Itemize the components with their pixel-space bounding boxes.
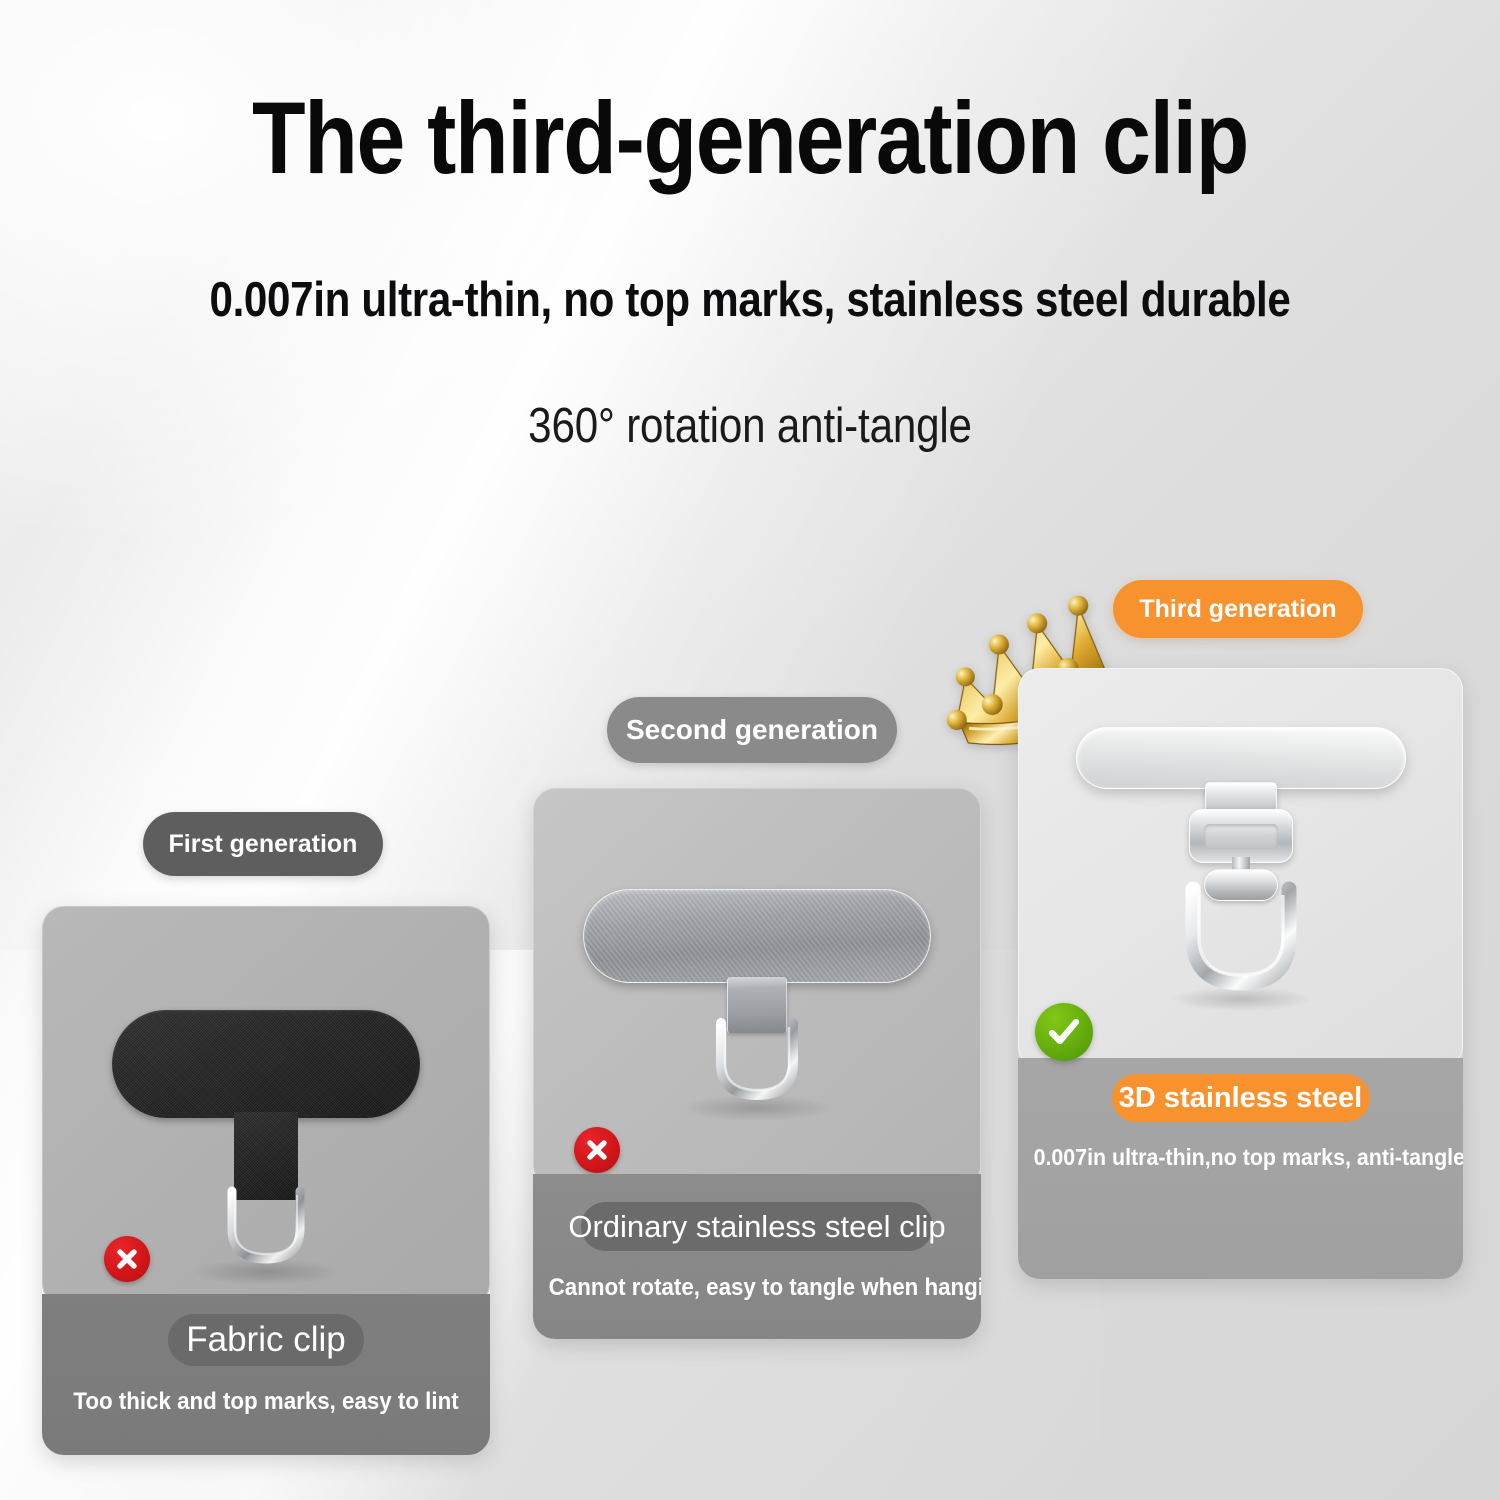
product-name-label: Fabric clip xyxy=(186,1320,345,1360)
generation-badge-first: First generation xyxy=(143,812,383,876)
product-name-label: Ordinary stainless steel clip xyxy=(568,1209,945,1245)
comparison-card-first-generation: Fabric clip Too thick and top marks, eas… xyxy=(42,906,490,1455)
page-subtitle: 0.007in ultra-thin, no top marks, stainl… xyxy=(105,272,1395,328)
product-image-3d-stainless-steel-clip xyxy=(1018,668,1463,1068)
product-caption: 0.007in ultra-thin,no top marks, anti-ta… xyxy=(1034,1144,1448,1171)
product-name-badge: Fabric clip xyxy=(168,1314,364,1366)
clip-bar xyxy=(1076,727,1406,789)
fabric-clip-bar xyxy=(112,1010,420,1118)
d-ring-icon xyxy=(1177,877,1305,995)
product-caption: Cannot rotate, easy to tangle when hangi… xyxy=(549,1274,966,1302)
product-name-badge: Ordinary stainless steel clip xyxy=(581,1202,933,1251)
swivel-rectangular-ring xyxy=(1189,809,1293,863)
comparison-card-second-generation: Ordinary stainless steel clip Cannot rot… xyxy=(533,788,981,1339)
page-tagline: 360° rotation anti-tangle xyxy=(105,398,1395,454)
product-name-label: 3D stainless steel xyxy=(1119,1082,1362,1115)
product-name-badge: 3D stainless steel xyxy=(1112,1074,1370,1122)
generation-badge-second-label: Second generation xyxy=(626,714,878,746)
generation-badge-first-label: First generation xyxy=(169,830,358,859)
card-footer-first-generation: Fabric clip Too thick and top marks, eas… xyxy=(42,1294,490,1455)
generation-badge-second: Second generation xyxy=(607,697,897,763)
card-footer-third-generation: 3D stainless steel 0.007in ultra-thin,no… xyxy=(1018,1058,1463,1279)
x-mark-icon xyxy=(104,1236,150,1282)
page-title: The third-generation clip xyxy=(105,86,1395,190)
d-ring-icon xyxy=(218,1185,314,1267)
d-ring-icon xyxy=(707,1017,807,1103)
generation-badge-third: Third generation xyxy=(1113,580,1363,638)
x-mark-icon xyxy=(574,1127,620,1173)
comparison-card-third-generation: 3D stainless steel 0.007in ultra-thin,no… xyxy=(1018,668,1463,1279)
check-mark-icon xyxy=(1035,1003,1093,1061)
generation-badge-third-label: Third generation xyxy=(1139,595,1336,624)
card-footer-second-generation: Ordinary stainless steel clip Cannot rot… xyxy=(533,1174,981,1339)
product-caption: Too thick and top marks, easy to lint xyxy=(58,1388,475,1416)
steel-clip-bar xyxy=(583,889,931,983)
